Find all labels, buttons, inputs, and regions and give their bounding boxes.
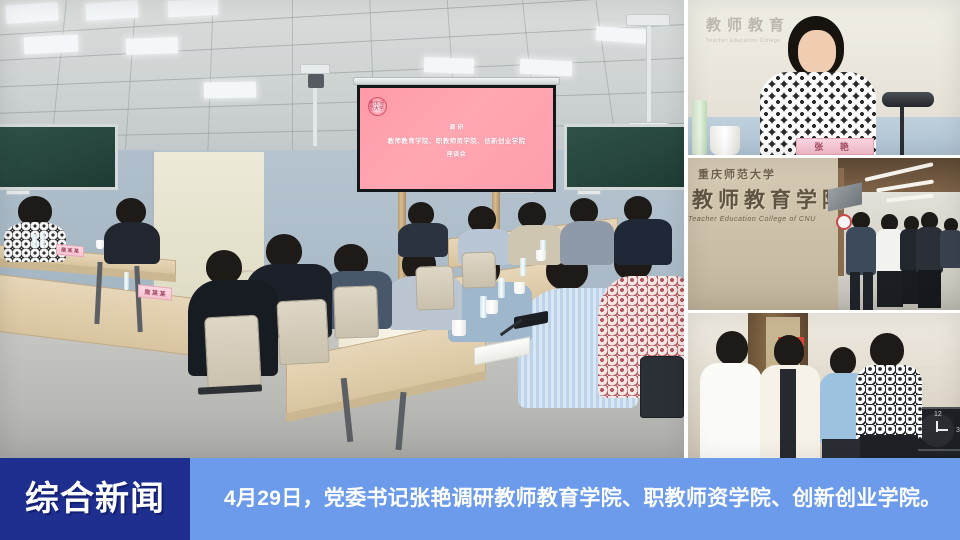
side-photo-speaker-at-podium: 教师教育 Teacher Education College 张 艳 bbox=[688, 0, 960, 155]
chair bbox=[276, 299, 329, 366]
wall-sign-university: 重庆师范大学 bbox=[698, 166, 776, 182]
nameplate-label: 张 艳 bbox=[814, 140, 856, 153]
tea-cup bbox=[514, 282, 525, 294]
university-logo-icon: 重庆师范大学 bbox=[368, 97, 387, 116]
projector-icon bbox=[308, 74, 324, 88]
caption-text: 4月29日，党委书记张艳调研教师教育学院、职教师资学院、创新创业学院。 bbox=[190, 486, 942, 511]
side-photo-office-group-conversation: 12 3 9 bbox=[688, 313, 960, 458]
nameplate-label: 席 某 某 bbox=[144, 287, 165, 298]
slide-line-3: 座谈会 bbox=[360, 149, 553, 158]
tea-cup bbox=[96, 240, 104, 249]
side-photo-corridor-walkthrough: 重庆师范大学 教师教育学院 Teacher Education College … bbox=[688, 158, 960, 310]
paper-cup bbox=[452, 320, 466, 336]
water-bottle bbox=[498, 278, 505, 298]
projector-mount bbox=[626, 14, 670, 26]
ceiling-light bbox=[520, 59, 573, 77]
chair bbox=[640, 356, 684, 418]
chalk-tray bbox=[6, 190, 30, 195]
chair bbox=[333, 285, 379, 339]
slide-line-2: 教师教育学院、职教师资学院、创新创业学院 bbox=[360, 135, 553, 145]
nameplate: 唐 某 某 bbox=[56, 244, 84, 257]
paper-cup bbox=[486, 300, 498, 314]
ceiling-light bbox=[168, 0, 219, 17]
chalkboard-right bbox=[564, 124, 684, 190]
ceiling-light bbox=[85, 0, 138, 21]
ceiling-light bbox=[5, 2, 58, 24]
caption-text-block: 4月29日，党委书记张艳调研教师教育学院、职教师资学院、创新创业学院。 bbox=[190, 458, 960, 540]
water-bottle bbox=[520, 258, 526, 276]
caption-bar: 综合新闻 4月29日，党委书记张艳调研教师教育学院、职教师资学院、创新创业学院。 bbox=[0, 458, 960, 540]
projector-screen: 重庆师范大学 调 研 教师教育学院、职教师资学院、创新创业学院 座谈会 bbox=[357, 85, 556, 192]
ceiling-light bbox=[24, 35, 79, 55]
chair bbox=[461, 251, 496, 288]
ceiling-light bbox=[596, 26, 647, 43]
projector-arm bbox=[646, 26, 651, 122]
projector-arm bbox=[313, 88, 317, 146]
ceiling-light bbox=[204, 82, 256, 99]
person-face bbox=[798, 30, 836, 74]
tea-cup bbox=[536, 250, 546, 261]
logo-text: 重庆师范大学 bbox=[369, 102, 386, 112]
slide-line-1: 调 研 bbox=[360, 122, 553, 131]
ceiling-light bbox=[126, 37, 179, 55]
nameplate: 张 艳 bbox=[796, 138, 874, 155]
screen-roller-casing bbox=[353, 77, 560, 85]
tea-cup bbox=[710, 126, 740, 155]
microphone-stand bbox=[900, 106, 904, 155]
news-collage-page: 重庆师范大学 调 研 教师教育学院、职教师资学院、创新创业学院 座谈会 唐 bbox=[0, 0, 960, 540]
wall-sign-english: Teacher Education College of CNU bbox=[688, 216, 816, 223]
wall-sign-college: 教师教育学院 bbox=[692, 184, 848, 214]
category-label-block: 综合新闻 bbox=[0, 458, 190, 540]
chair bbox=[204, 315, 262, 394]
chair bbox=[415, 265, 455, 310]
water-bottle bbox=[124, 272, 129, 290]
chalkboard-left bbox=[0, 124, 118, 190]
water-bottle bbox=[32, 234, 37, 248]
main-photo-conference-room: 重庆师范大学 调 研 教师教育学院、职教师资学院、创新创业学院 座谈会 唐 bbox=[0, 0, 684, 458]
nameplate-label: 唐 某 某 bbox=[61, 246, 79, 255]
water-bottle bbox=[40, 232, 45, 248]
category-label-text: 综合新闻 bbox=[25, 482, 165, 516]
projector-mount bbox=[300, 64, 330, 74]
microphone-icon bbox=[882, 92, 934, 107]
chalk-tray bbox=[577, 190, 601, 195]
water-bottle bbox=[692, 100, 707, 155]
ceiling-light bbox=[424, 57, 474, 74]
